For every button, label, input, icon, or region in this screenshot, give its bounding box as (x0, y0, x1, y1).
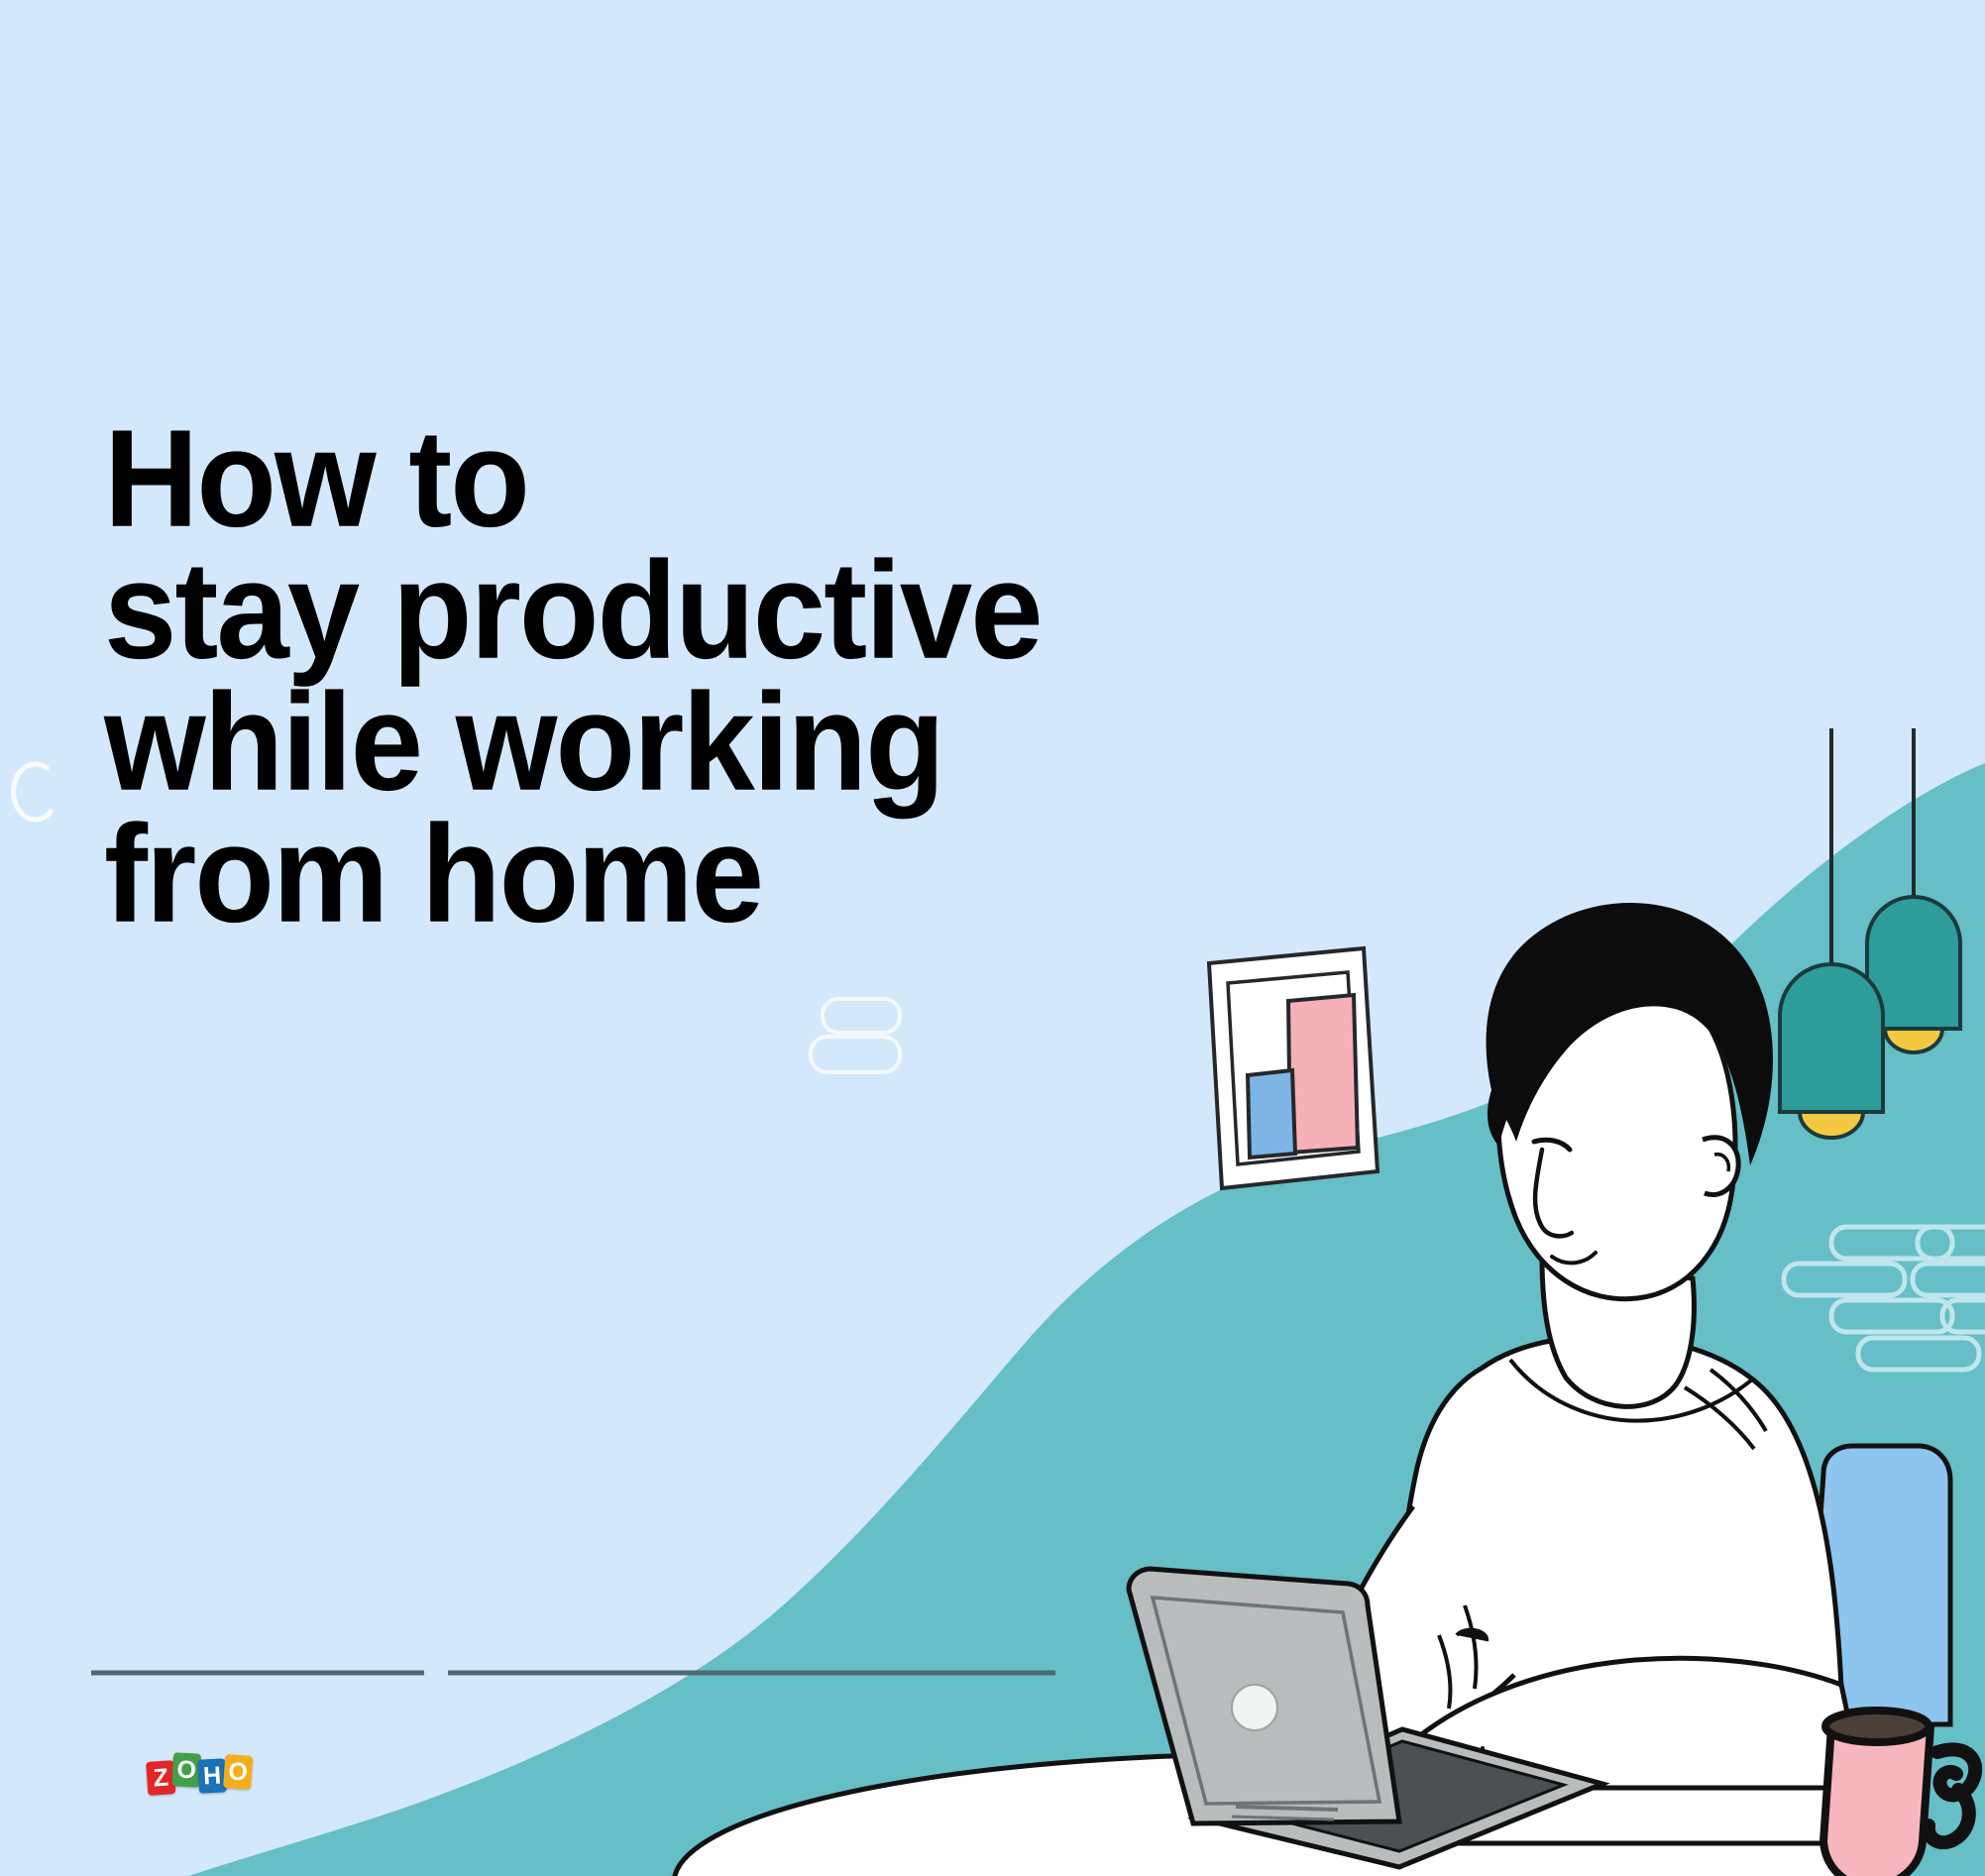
poster-canvas: How to stay productive while working fro… (0, 0, 1985, 1876)
frame-shape-pink (1288, 995, 1358, 1153)
title-line-3: while working (104, 672, 1244, 812)
mug-body (1823, 1726, 1930, 1876)
frame-shape-blue (1248, 1070, 1295, 1158)
person-ear (1703, 1138, 1738, 1195)
title-line-1: How to (104, 408, 1244, 548)
title-line-2: stay productive (104, 540, 1244, 680)
wall-picture-frame (1209, 948, 1378, 1188)
zoho-logo[interactable]: Z O H O (147, 1741, 250, 1791)
title-line-4: from home (104, 804, 1244, 943)
zoho-letter-h: H (197, 1758, 227, 1793)
laptop-logo (1232, 1685, 1277, 1730)
poster-title: How to stay productive while working fro… (104, 408, 1244, 936)
zoho-letter-o2: O (223, 1754, 253, 1790)
mug-coffee (1825, 1710, 1929, 1742)
zoho-letter-o1: O (171, 1752, 201, 1787)
